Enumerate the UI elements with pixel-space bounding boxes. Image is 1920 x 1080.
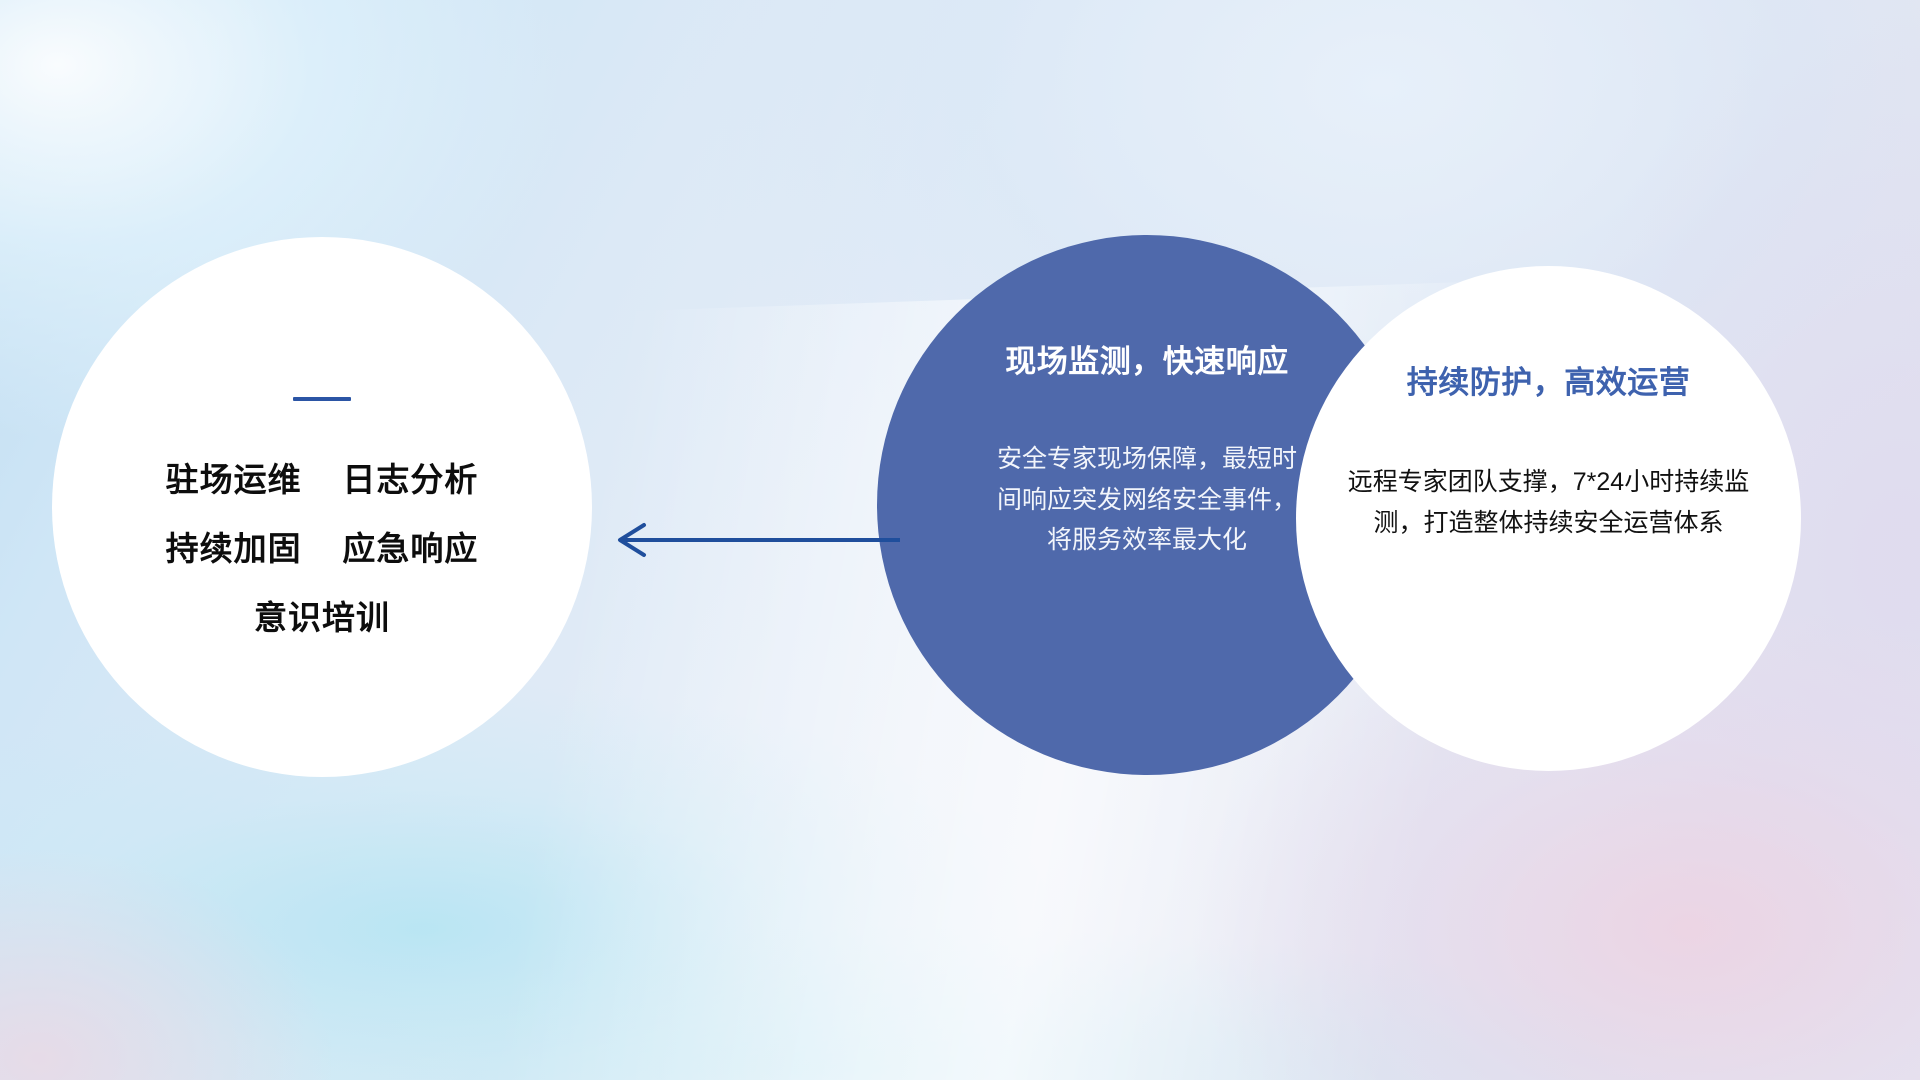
- keyword-line-2: 持续加固 应急响应: [166, 532, 479, 565]
- flow-arrow-left-icon: [600, 520, 900, 560]
- keyword-line-3: 意识培训: [254, 601, 390, 634]
- circle-continuous-protection-content: 持续防护，高效运营 远程专家团队支撑，7*24小时持续监测，打造整体持续安全运营…: [1296, 266, 1801, 771]
- circle-onsite-monitoring-body: 安全专家现场保障，最短时间响应突发网络安全事件，将服务效率最大化: [997, 439, 1297, 561]
- circle-continuous-protection-title: 持续防护，高效运营: [1407, 366, 1691, 400]
- circle-keywords: 驻场运维 日志分析 持续加固 应急响应 意识培训: [52, 237, 592, 777]
- keyword-line-1: 驻场运维 日志分析: [166, 463, 479, 496]
- circle-continuous-protection: 持续防护，高效运营 远程专家团队支撑，7*24小时持续监测，打造整体持续安全运营…: [1296, 266, 1801, 771]
- slide-canvas: 驻场运维 日志分析 持续加固 应急响应 意识培训 现场监测，快速响应 安全专家现…: [0, 0, 1920, 1080]
- circle-onsite-monitoring-title: 现场监测，快速响应: [1005, 345, 1289, 379]
- accent-rule-divider: [293, 397, 351, 401]
- circle-keywords-content: 驻场运维 日志分析 持续加固 应急响应 意识培训: [52, 237, 592, 777]
- circle-continuous-protection-body: 远程专家团队支撑，7*24小时持续监测，打造整体持续安全运营体系: [1344, 462, 1754, 543]
